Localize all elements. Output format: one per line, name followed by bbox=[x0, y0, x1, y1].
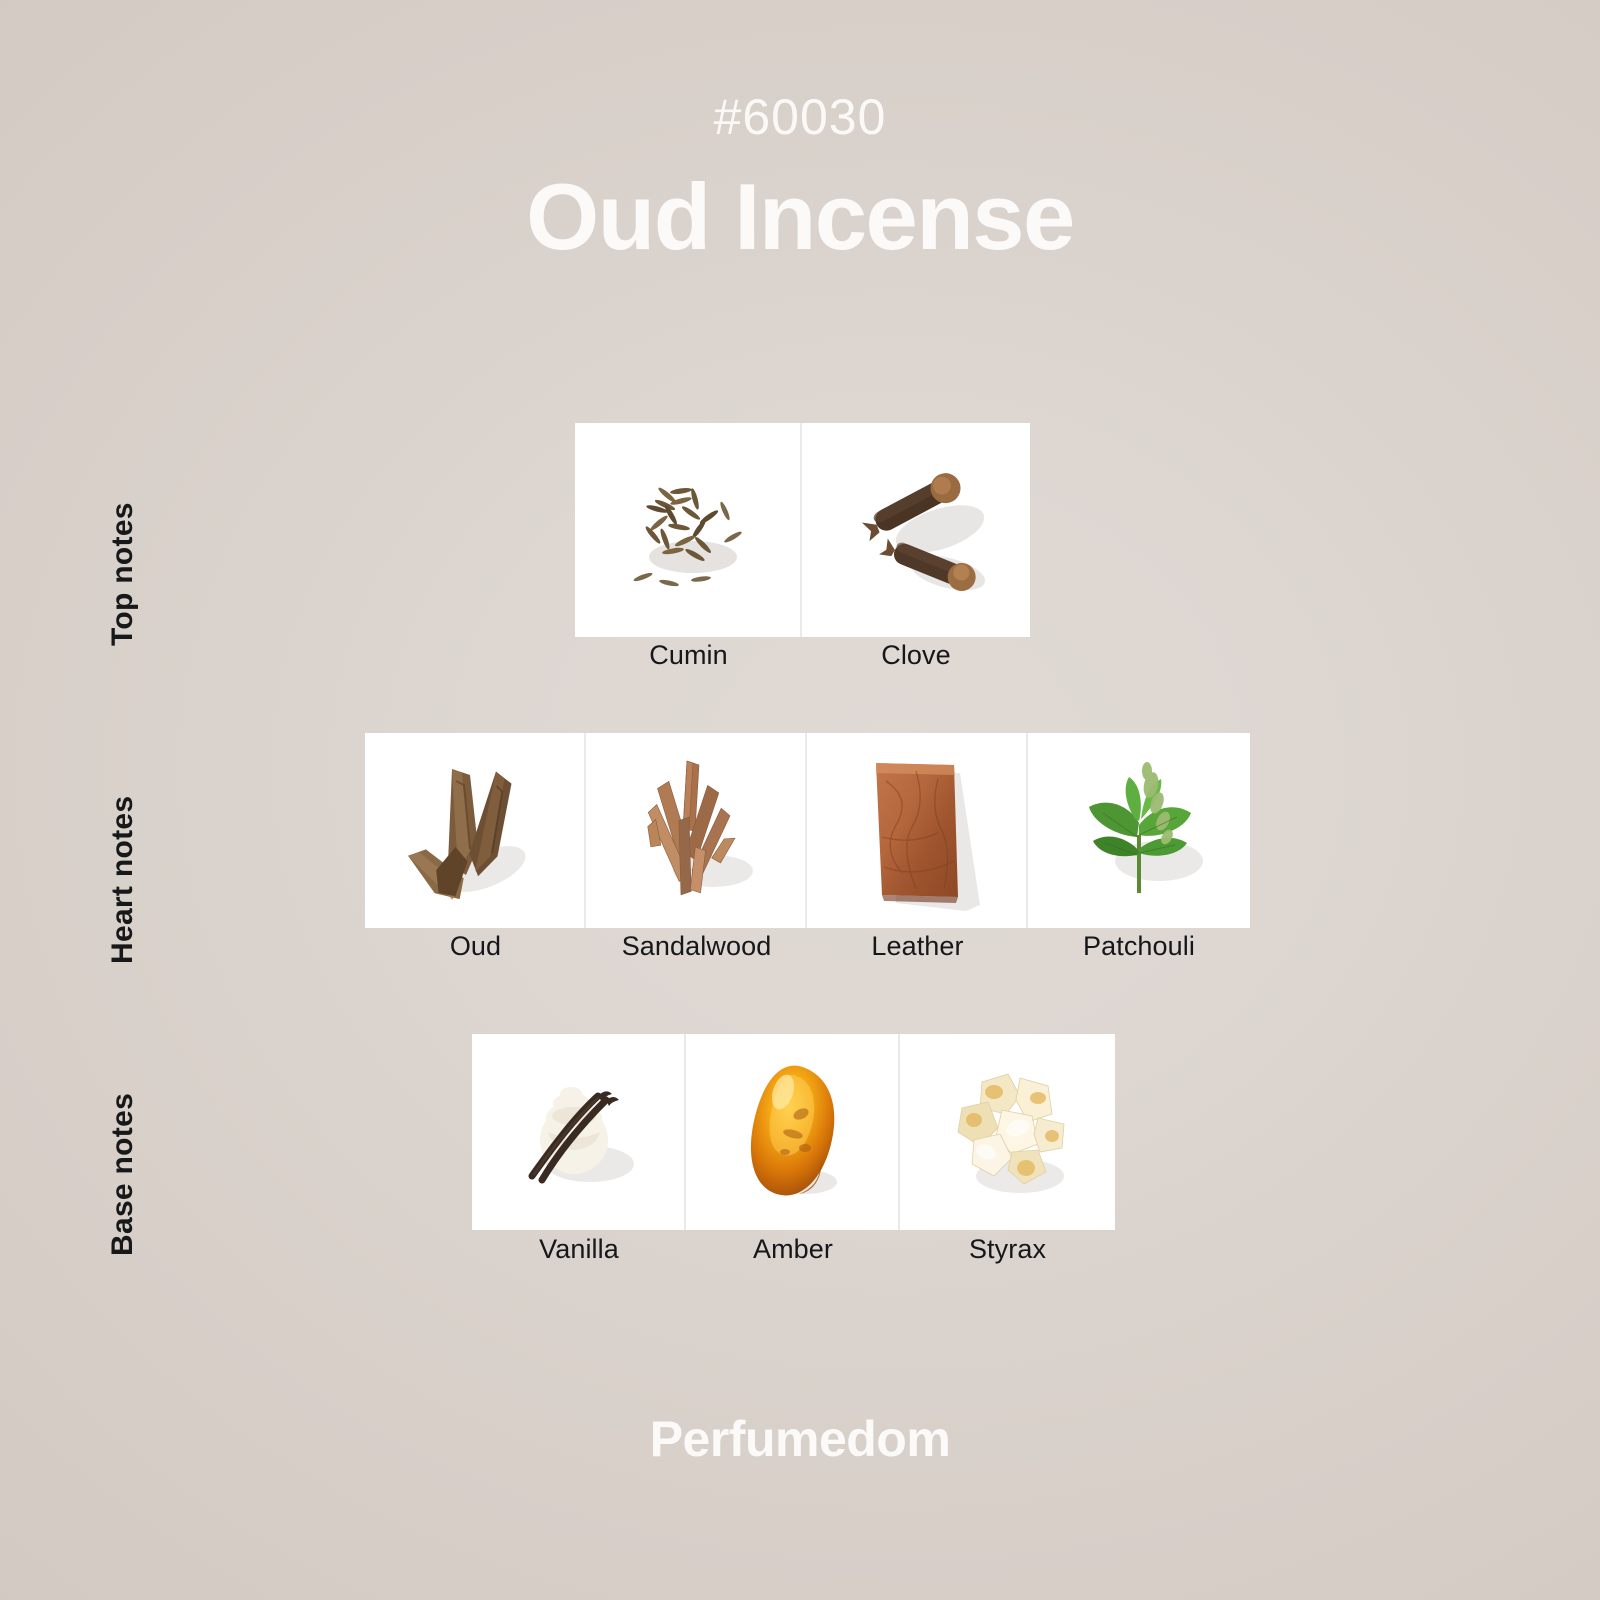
ingredient-label-sandalwood: Sandalwood bbox=[586, 931, 807, 962]
ingredient-label-styrax: Styrax bbox=[900, 1234, 1115, 1265]
section-label-base-notes: Base notes bbox=[106, 1093, 140, 1256]
section-label-top-notes: Top notes bbox=[106, 502, 140, 646]
ingredient-tile-vanilla[interactable] bbox=[472, 1034, 686, 1230]
ingredient-label-amber: Amber bbox=[686, 1234, 900, 1265]
composition-code: #60030 bbox=[0, 92, 1600, 142]
tile-row-top-notes bbox=[575, 423, 1030, 637]
ingredient-tile-styrax[interactable] bbox=[900, 1034, 1115, 1230]
clove-buds-icon bbox=[802, 423, 1030, 637]
tile-row-heart-notes bbox=[365, 733, 1250, 928]
tile-labels-top-notes: Cumin Clove bbox=[575, 640, 1030, 671]
ingredient-tile-cumin[interactable] bbox=[575, 423, 802, 637]
tile-labels-base-notes: Vanilla Amber Styrax bbox=[472, 1234, 1115, 1265]
ingredient-tile-amber[interactable] bbox=[686, 1034, 900, 1230]
tile-row-base-notes bbox=[472, 1034, 1115, 1230]
ingredient-label-patchouli: Patchouli bbox=[1028, 931, 1250, 962]
page-title: Oud Incense bbox=[0, 168, 1600, 267]
patchouli-leaf-icon bbox=[1028, 733, 1250, 928]
ingredient-tile-patchouli[interactable] bbox=[1028, 733, 1250, 928]
ingredient-label-clove: Clove bbox=[802, 640, 1030, 671]
footer: Perfumedom bbox=[0, 1410, 1600, 1468]
ingredient-tile-oud[interactable] bbox=[365, 733, 586, 928]
vanilla-bean-icon bbox=[472, 1034, 684, 1230]
ingredient-label-vanilla: Vanilla bbox=[472, 1234, 686, 1265]
ingredient-label-oud: Oud bbox=[365, 931, 586, 962]
amber-resin-icon bbox=[686, 1034, 898, 1230]
ingredient-tile-leather[interactable] bbox=[807, 733, 1028, 928]
sandalwood-chips-icon bbox=[586, 733, 805, 928]
cumin-seeds-icon bbox=[575, 423, 800, 637]
ingredient-tile-clove[interactable] bbox=[802, 423, 1030, 637]
header: #60030 Oud Incense bbox=[0, 0, 1600, 267]
section-label-heart-notes: Heart notes bbox=[106, 796, 140, 964]
brand-name: Perfumedom bbox=[0, 1410, 1600, 1468]
oud-wood-icon bbox=[365, 733, 584, 928]
ingredient-label-cumin: Cumin bbox=[575, 640, 802, 671]
leather-swatch-icon bbox=[807, 733, 1026, 928]
styrax-resin-icon bbox=[900, 1034, 1115, 1230]
tile-labels-heart-notes: Oud Sandalwood Leather Patchouli bbox=[365, 931, 1250, 962]
ingredient-label-leather: Leather bbox=[807, 931, 1028, 962]
ingredient-tile-sandalwood[interactable] bbox=[586, 733, 807, 928]
